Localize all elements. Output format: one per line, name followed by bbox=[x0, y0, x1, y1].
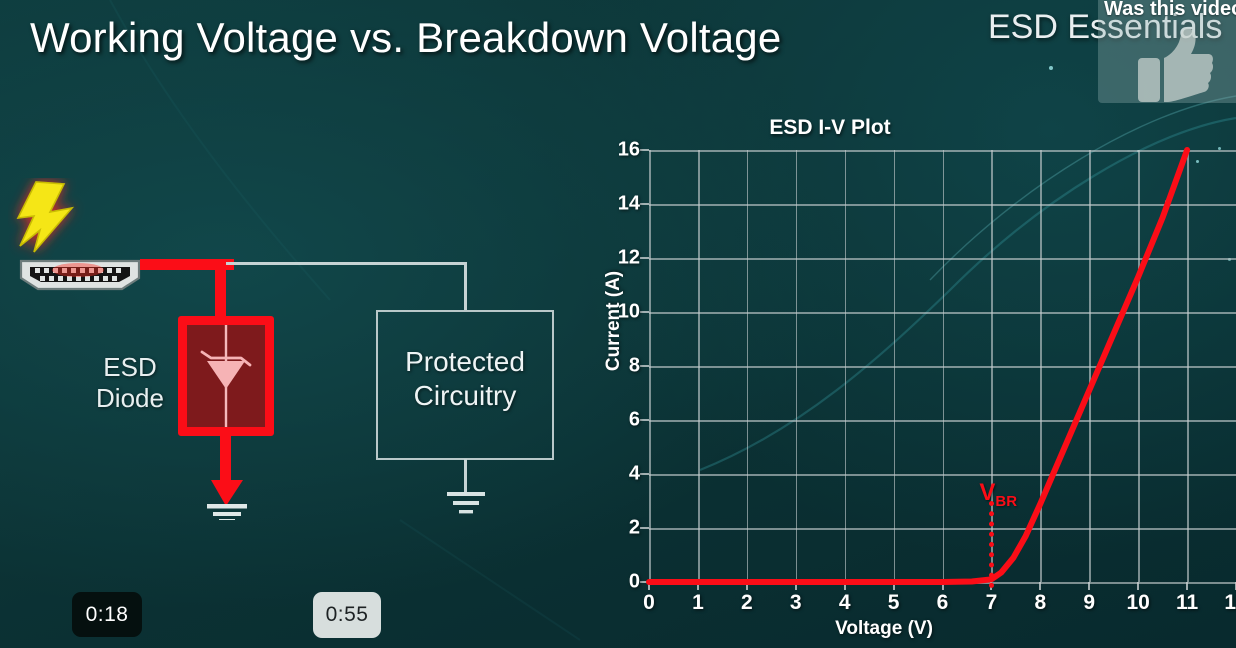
chart-x-tick-label: 8 bbox=[1034, 591, 1046, 615]
esd-label-line2: Diode bbox=[96, 383, 164, 413]
protected-circuitry-label: Protected Circuitry bbox=[376, 345, 554, 413]
chart-x-tick-label: 3 bbox=[790, 591, 802, 615]
survey-overlay-panel[interactable]: Was this video bbox=[1098, 0, 1236, 103]
chart-x-tick-label: 6 bbox=[937, 591, 949, 615]
chart-y-tick-label: 14 bbox=[618, 193, 640, 216]
chart-y-tick-mark bbox=[640, 365, 649, 367]
chart-y-tick-mark bbox=[640, 257, 649, 259]
thumbs-up-icon[interactable] bbox=[1134, 28, 1214, 102]
ground-symbol-icon bbox=[198, 432, 256, 520]
chart-series-layer bbox=[649, 150, 1236, 582]
timestamp-total[interactable]: 0:55 bbox=[313, 592, 381, 638]
chart-plot-area: 02468101214160123456789101112VBR bbox=[649, 150, 1236, 582]
page-title: Working Voltage vs. Breakdown Voltage bbox=[30, 14, 781, 62]
chart-series-line bbox=[649, 150, 1187, 582]
chart-x-tick-label: 1 bbox=[692, 591, 704, 615]
chart-y-tick-mark bbox=[640, 149, 649, 151]
protected-label-line1: Protected bbox=[405, 346, 525, 377]
chart-y-tick-label: 2 bbox=[629, 517, 640, 540]
chart-x-tick-mark bbox=[1039, 582, 1041, 590]
chart-y-tick-mark bbox=[640, 203, 649, 205]
chart-y-tick-label: 4 bbox=[629, 463, 640, 486]
chart-y-tick-label: 16 bbox=[618, 139, 640, 162]
circuit-diagram: ESD Diode Protected Circuitry bbox=[0, 170, 600, 570]
chart-y-tick-mark bbox=[640, 419, 649, 421]
chart-x-tick-label: 11 bbox=[1176, 591, 1198, 615]
esd-diode-box bbox=[178, 316, 274, 436]
esd-iv-chart: ESD I-V Plot Current (A) Voltage (V) 024… bbox=[584, 112, 1236, 648]
wire-gray-down-to-box bbox=[464, 262, 467, 312]
chart-x-axis-label: Voltage (V) bbox=[584, 618, 1184, 640]
chart-x-tick-label: 5 bbox=[888, 591, 900, 615]
chart-y-tick-label: 10 bbox=[618, 301, 640, 324]
ground-symbol-icon bbox=[441, 459, 491, 515]
vbr-annotation-label: VBR bbox=[979, 479, 1017, 510]
chart-y-tick-label: 12 bbox=[618, 247, 640, 270]
chart-y-tick-label: 8 bbox=[629, 355, 640, 378]
chart-x-tick-label: 2 bbox=[741, 591, 753, 615]
chart-y-tick-label: 0 bbox=[629, 571, 640, 594]
sparkle-dot bbox=[1049, 66, 1053, 70]
chart-x-tick-label: 9 bbox=[1083, 591, 1095, 615]
wire-gray-horizontal bbox=[226, 262, 466, 265]
chart-x-tick-label: 10 bbox=[1126, 591, 1149, 615]
chart-title: ESD I-V Plot bbox=[584, 116, 1236, 140]
chart-x-tick-mark bbox=[1186, 582, 1188, 590]
hdmi-connector-icon bbox=[18, 256, 142, 294]
vbr-subscript: BR bbox=[995, 493, 1017, 510]
chart-x-tick-label: 0 bbox=[643, 591, 655, 615]
chart-x-tick-label: 4 bbox=[839, 591, 851, 615]
wire-red-down-to-diode bbox=[215, 259, 226, 321]
vbr-dotted-line bbox=[989, 501, 999, 588]
timestamp-current[interactable]: 0:18 bbox=[72, 592, 142, 637]
chart-x-tick-label: 7 bbox=[986, 591, 998, 615]
chart-y-tick-label: 6 bbox=[629, 409, 640, 432]
chart-y-tick-mark bbox=[640, 527, 649, 529]
protected-label-line2: Circuitry bbox=[414, 380, 517, 411]
chart-x-tick-label: 12 bbox=[1224, 591, 1236, 615]
zener-diode-icon bbox=[187, 325, 265, 427]
survey-prompt: Was this video bbox=[1104, 0, 1236, 21]
chart-x-tick-mark bbox=[1137, 582, 1139, 590]
vbr-main: V bbox=[979, 479, 995, 506]
slide-canvas: Working Voltage vs. Breakdown Voltage ES… bbox=[0, 0, 1236, 648]
esd-label-line1: ESD bbox=[103, 352, 156, 382]
chart-y-tick-mark bbox=[640, 311, 649, 313]
chart-y-tick-mark bbox=[640, 473, 649, 475]
chart-x-tick-mark bbox=[1088, 582, 1090, 590]
esd-diode-label: ESD Diode bbox=[88, 352, 172, 413]
